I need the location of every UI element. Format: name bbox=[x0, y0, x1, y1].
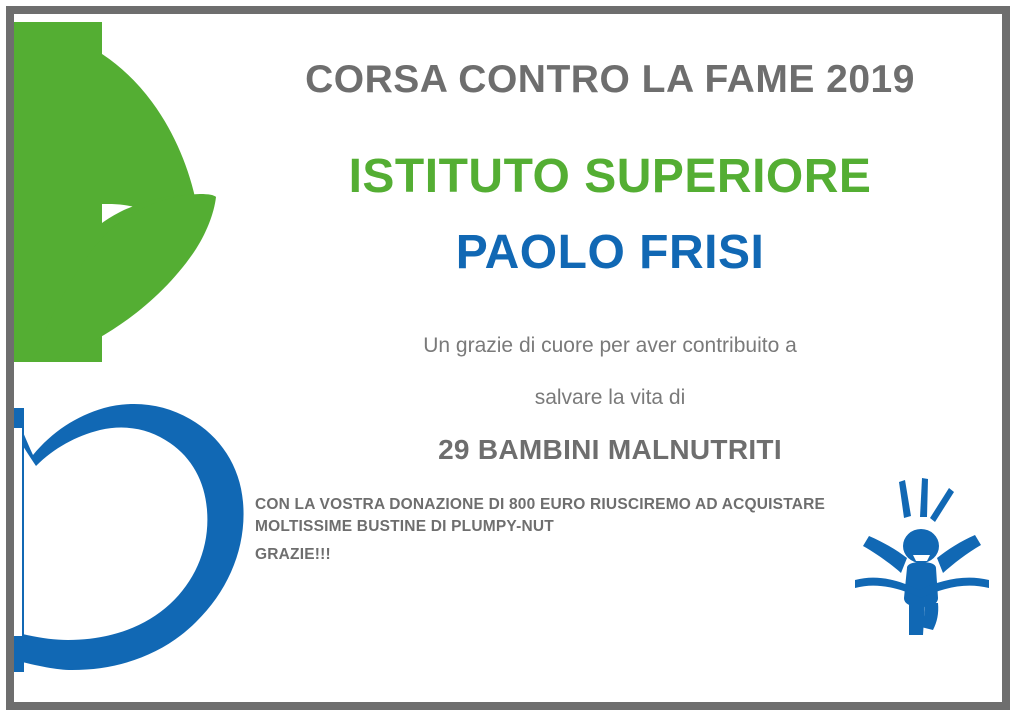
certificate-page: CORSA CONTRO LA FAME 2019 ISTITUTO SUPER… bbox=[0, 0, 1024, 724]
donation-note: CON LA VOSTRA DONAZIONE DI 800 EURO RIUS… bbox=[255, 494, 855, 538]
ray-center bbox=[920, 478, 928, 517]
school-name-line-1: ISTITUTO SUPERIORE bbox=[230, 152, 990, 202]
children-count: 29 BAMBINI MALNUTRITI bbox=[230, 434, 990, 466]
celebrating-runner-icon bbox=[855, 470, 990, 635]
runner-mouth bbox=[913, 555, 930, 561]
ray-left bbox=[899, 480, 911, 518]
runner-leg-left bbox=[909, 603, 925, 635]
runner-arm-left bbox=[863, 536, 907, 573]
donation-note-line-2: MOLTISSIME BUSTINE DI PLUMPY-NUT bbox=[255, 516, 855, 538]
ray-right bbox=[930, 488, 954, 522]
thanks-message-line-1: Un grazie di cuore per aver contribuito … bbox=[230, 334, 990, 358]
school-name-line-2: PAOLO FRISI bbox=[230, 228, 990, 278]
runner-arm-right bbox=[937, 535, 981, 573]
donation-note-line-1: CON LA VOSTRA DONAZIONE DI 800 EURO RIUS… bbox=[255, 494, 855, 516]
thanks-message-line-2: salvare la vita di bbox=[230, 386, 990, 410]
event-title: CORSA CONTRO LA FAME 2019 bbox=[230, 60, 990, 101]
grazie-text: GRAZIE!!! bbox=[255, 546, 655, 564]
